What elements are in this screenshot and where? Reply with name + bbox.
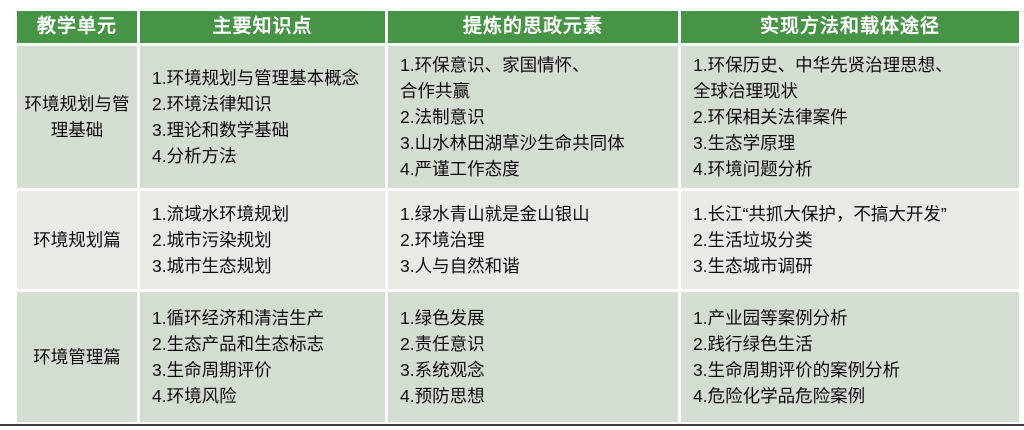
- cell-knowledge-points: 1.环境规划与管理基本概念2.环境法律知识3.理论和数学基础4.分析方法: [140, 46, 385, 188]
- ideological-elements-text: 1.环保意识、家国情怀、合作共赢2.法制意识3.山水林田湖草沙生命共同体4.严谨…: [400, 52, 674, 182]
- text-line: 全球治理现状: [693, 78, 1015, 104]
- methods-carriers-text: 1.环保历史、中华先贤治理思想、全球治理现状2.环保相关法律案件3.生态学原理4…: [693, 52, 1015, 182]
- cell-methods-carriers: 1.长江“共抓大保护，不搞大开发”2.生活垃圾分类3.生态城市调研: [681, 191, 1019, 289]
- text-line: 1.绿水青山就是金山银山: [400, 201, 674, 227]
- table-header-row: 教学单元 主要知识点 提炼的思政元素 实现方法和载体途径: [17, 11, 1019, 43]
- cell-ideological-elements: 1.环保意识、家国情怀、合作共赢2.法制意识3.山水林田湖草沙生命共同体4.严谨…: [388, 46, 678, 188]
- knowledge-points-text: 1.环境规划与管理基本概念2.环境法律知识3.理论和数学基础4.分析方法: [152, 65, 381, 169]
- table-row: 环境规划与管理基础 1.环境规划与管理基本概念2.环境法律知识3.理论和数学基础…: [17, 46, 1019, 188]
- table-row: 环境管理篇 1.循环经济和清洁生产2.生态产品和生态标志3.生命周期评价4.环境…: [17, 292, 1019, 422]
- unit-text: 环境规划篇: [23, 227, 131, 253]
- text-line: 3.人与自然和谐: [400, 253, 674, 279]
- text-line: 3.理论和数学基础: [152, 117, 381, 143]
- knowledge-points-text: 1.流域水环境规划2.城市污染规划3.城市生态规划: [152, 201, 381, 279]
- text-line: 3.生态城市调研: [693, 253, 1015, 279]
- methods-carriers-text: 1.产业园等案例分析2.践行绿色生活3.生命周期评价的案例分析4.危险化学品危险…: [693, 305, 1015, 409]
- text-line: 2.生活垃圾分类: [693, 227, 1015, 253]
- text-line: 3.生命周期评价: [152, 357, 381, 383]
- methods-carriers-text: 1.长江“共抓大保护，不搞大开发”2.生活垃圾分类3.生态城市调研: [693, 201, 1015, 279]
- text-line: 2.环境治理: [400, 227, 674, 253]
- text-line: 1.产业园等案例分析: [693, 305, 1015, 331]
- curriculum-ideological-table: 教学单元 主要知识点 提炼的思政元素 实现方法和载体途径 环境规划与管理基础 1…: [14, 8, 1022, 425]
- text-line: 4.环境风险: [152, 383, 381, 409]
- text-line: 3.生命周期评价的案例分析: [693, 357, 1015, 383]
- text-line: 2.环境法律知识: [152, 91, 381, 117]
- cell-knowledge-points: 1.流域水环境规划2.城市污染规划3.城市生态规划: [140, 191, 385, 289]
- ideological-elements-text: 1.绿色发展2.责任意识3.系统观念4.预防思想: [400, 305, 674, 409]
- column-header-methods-carriers: 实现方法和载体途径: [681, 11, 1019, 43]
- text-line: 3.城市生态规划: [152, 253, 381, 279]
- text-line: 1.环境规划与管理基本概念: [152, 65, 381, 91]
- bottom-divider: [0, 424, 1024, 426]
- column-header-key-knowledge: 主要知识点: [140, 11, 385, 43]
- cell-ideological-elements: 1.绿色发展2.责任意识3.系统观念4.预防思想: [388, 292, 678, 422]
- table-row: 环境规划篇 1.流域水环境规划2.城市污染规划3.城市生态规划 1.绿水青山就是…: [17, 191, 1019, 289]
- text-line: 2.践行绿色生活: [693, 331, 1015, 357]
- text-line: 3.山水林田湖草沙生命共同体: [400, 130, 674, 156]
- text-line: 2.环保相关法律案件: [693, 104, 1015, 130]
- table-header: 教学单元 主要知识点 提炼的思政元素 实现方法和载体途径: [17, 11, 1019, 43]
- text-line: 1.长江“共抓大保护，不搞大开发”: [693, 201, 1015, 227]
- text-line: 2.责任意识: [400, 331, 674, 357]
- text-line: 2.法制意识: [400, 104, 674, 130]
- column-header-ideological-elements: 提炼的思政元素: [388, 11, 678, 43]
- text-line: 2.生态产品和生态标志: [152, 331, 381, 357]
- text-line: 1.流域水环境规划: [152, 201, 381, 227]
- column-header-teaching-unit: 教学单元: [17, 11, 137, 43]
- cell-methods-carriers: 1.环保历史、中华先贤治理思想、全球治理现状2.环保相关法律案件3.生态学原理4…: [681, 46, 1019, 188]
- text-line: 合作共赢: [400, 78, 674, 104]
- text-line: 4.危险化学品危险案例: [693, 383, 1015, 409]
- text-line: 1.环保意识、家国情怀、: [400, 52, 674, 78]
- cell-knowledge-points: 1.循环经济和清洁生产2.生态产品和生态标志3.生命周期评价4.环境风险: [140, 292, 385, 422]
- cell-ideological-elements: 1.绿水青山就是金山银山2.环境治理3.人与自然和谐: [388, 191, 678, 289]
- cell-methods-carriers: 1.产业园等案例分析2.践行绿色生活3.生命周期评价的案例分析4.危险化学品危险…: [681, 292, 1019, 422]
- unit-text: 环境规划与管理基础: [23, 91, 131, 143]
- table-body: 环境规划与管理基础 1.环境规划与管理基本概念2.环境法律知识3.理论和数学基础…: [17, 46, 1019, 422]
- text-line: 4.预防思想: [400, 383, 674, 409]
- text-line: 1.绿色发展: [400, 305, 674, 331]
- cell-unit: 环境规划篇: [17, 191, 137, 289]
- text-line: 3.生态学原理: [693, 130, 1015, 156]
- text-line: 3.系统观念: [400, 357, 674, 383]
- text-line: 2.城市污染规划: [152, 227, 381, 253]
- cell-unit: 环境规划与管理基础: [17, 46, 137, 188]
- text-line: 4.分析方法: [152, 143, 381, 169]
- slide-canvas: 教学单元 主要知识点 提炼的思政元素 实现方法和载体途径 环境规划与管理基础 1…: [0, 0, 1024, 430]
- text-line: 环境规划与管理基础: [23, 91, 131, 143]
- cell-unit: 环境管理篇: [17, 292, 137, 422]
- text-line: 4.环境问题分析: [693, 156, 1015, 182]
- knowledge-points-text: 1.循环经济和清洁生产2.生态产品和生态标志3.生命周期评价4.环境风险: [152, 305, 381, 409]
- text-line: 1.环保历史、中华先贤治理思想、: [693, 52, 1015, 78]
- text-line: 环境规划篇: [23, 227, 131, 253]
- unit-text: 环境管理篇: [23, 344, 131, 370]
- text-line: 环境管理篇: [23, 344, 131, 370]
- ideological-elements-text: 1.绿水青山就是金山银山2.环境治理3.人与自然和谐: [400, 201, 674, 279]
- text-line: 4.严谨工作态度: [400, 156, 674, 182]
- text-line: 1.循环经济和清洁生产: [152, 305, 381, 331]
